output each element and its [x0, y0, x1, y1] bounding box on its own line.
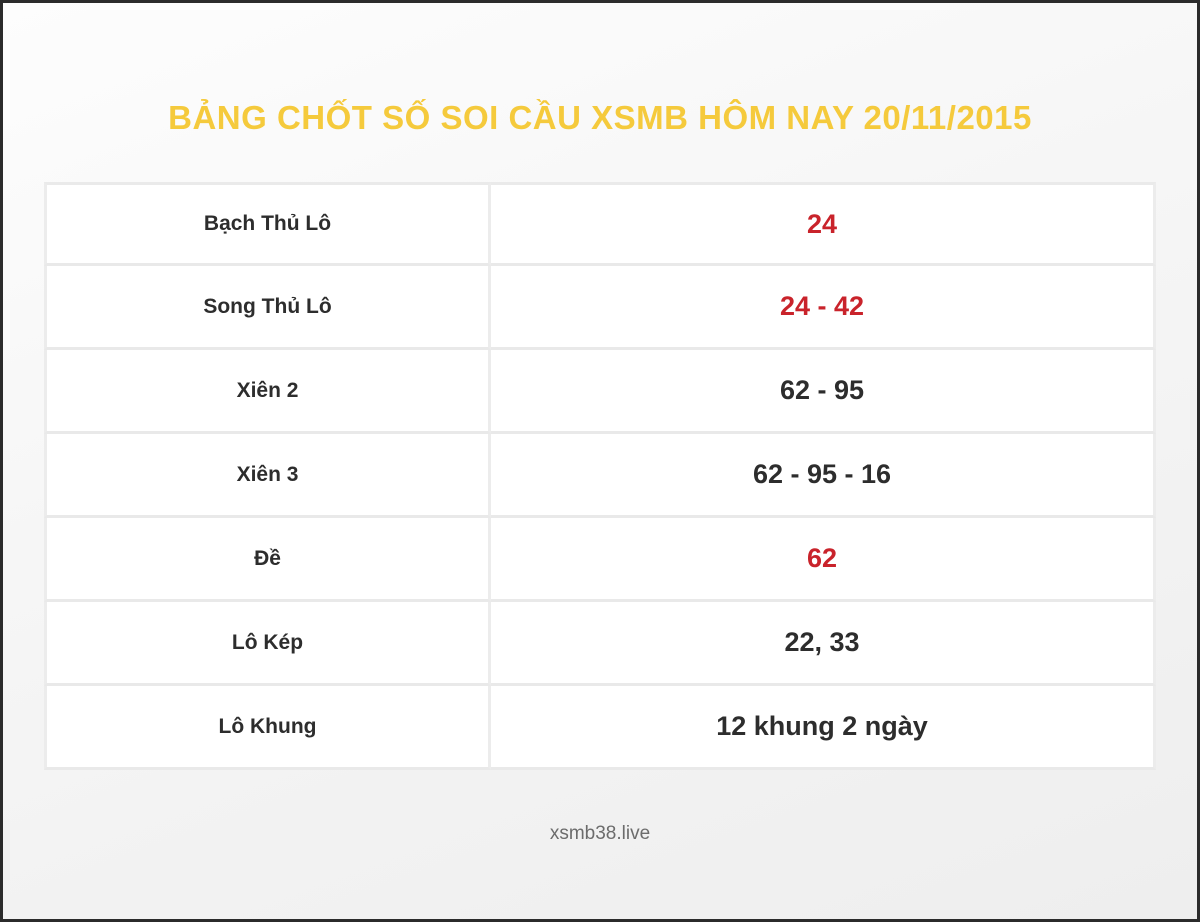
row-value: 62 [491, 518, 1156, 602]
page-canvas: BẢNG CHỐT SỐ SOI CẦU XSMB HÔM NAY 20/11/… [3, 3, 1197, 919]
table-row: Lô Khung12 khung 2 ngày [44, 686, 1156, 770]
row-value: 24 - 42 [491, 266, 1156, 350]
row-value: 22, 33 [491, 602, 1156, 686]
table-row: Đề62 [44, 518, 1156, 602]
row-label: Xiên 2 [44, 350, 491, 434]
row-label: Lô Kép [44, 602, 491, 686]
page-title: BẢNG CHỐT SỐ SOI CẦU XSMB HÔM NAY 20/11/… [168, 99, 1032, 137]
table-row: Xiên 362 - 95 - 16 [44, 434, 1156, 518]
table-row: Bạch Thủ Lô24 [44, 182, 1156, 266]
row-value: 12 khung 2 ngày [491, 686, 1156, 770]
row-label: Bạch Thủ Lô [44, 182, 491, 266]
row-value: 24 [491, 182, 1156, 266]
prediction-table: Bạch Thủ Lô24Song Thủ Lô24 - 42Xiên 262 … [44, 182, 1156, 770]
table-row: Lô Kép22, 33 [44, 602, 1156, 686]
row-label: Song Thủ Lô [44, 266, 491, 350]
table-body: Bạch Thủ Lô24Song Thủ Lô24 - 42Xiên 262 … [44, 182, 1156, 770]
table-row: Song Thủ Lô24 - 42 [44, 266, 1156, 350]
title-bar: BẢNG CHỐT SỐ SOI CẦU XSMB HÔM NAY 20/11/… [3, 99, 1197, 137]
table-row: Xiên 262 - 95 [44, 350, 1156, 434]
row-value: 62 - 95 - 16 [491, 434, 1156, 518]
footer: xsmb38.live [3, 823, 1197, 845]
row-value: 62 - 95 [491, 350, 1156, 434]
row-label: Đề [44, 518, 491, 602]
row-label: Xiên 3 [44, 434, 491, 518]
row-label: Lô Khung [44, 686, 491, 770]
site-watermark: xsmb38.live [550, 823, 650, 845]
